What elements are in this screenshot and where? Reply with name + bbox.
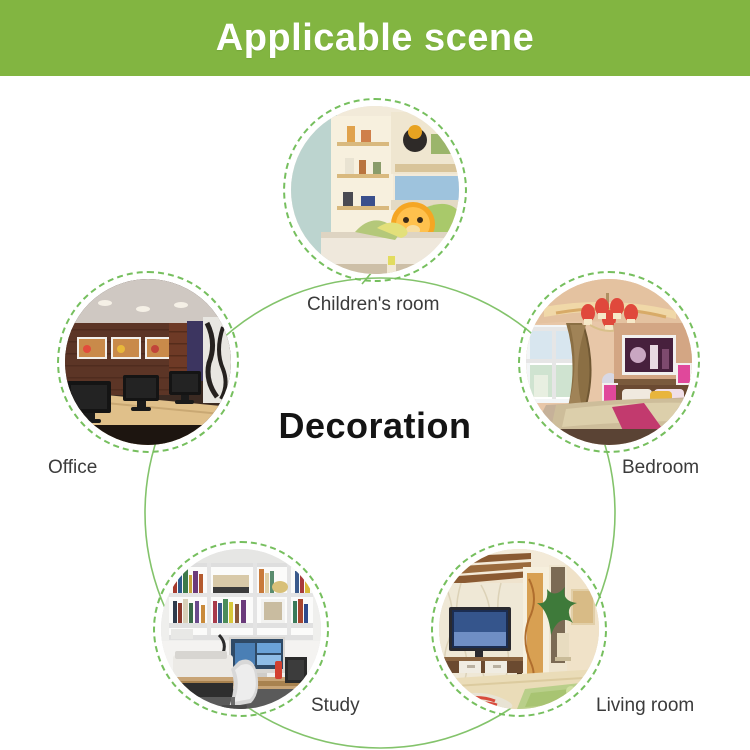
- scene-label-children-room: Children's room: [307, 294, 439, 316]
- office-photo: [65, 279, 231, 445]
- header-banner: Applicable scene: [0, 0, 750, 76]
- scene-label-bedroom: Bedroom: [622, 457, 699, 479]
- scene-node-study[interactable]: [153, 541, 329, 717]
- applicable-scene-infographic: Applicable scene Decoration: [0, 0, 750, 750]
- scene-node-office[interactable]: [57, 271, 239, 453]
- study-photo: [161, 549, 321, 709]
- scene-node-bedroom[interactable]: [518, 271, 700, 453]
- living-room-photo: [439, 549, 599, 709]
- scene-node-children-room[interactable]: [283, 98, 467, 282]
- children-room-photo: [291, 106, 459, 274]
- scene-label-study: Study: [311, 695, 360, 717]
- scene-label-living-room: Living room: [596, 695, 694, 717]
- page-title: Applicable scene: [216, 19, 534, 57]
- bedroom-photo: [526, 279, 692, 445]
- scene-node-living-room[interactable]: [431, 541, 607, 717]
- scene-label-office: Office: [48, 457, 97, 479]
- diagram-stage: Decoration: [0, 76, 750, 750]
